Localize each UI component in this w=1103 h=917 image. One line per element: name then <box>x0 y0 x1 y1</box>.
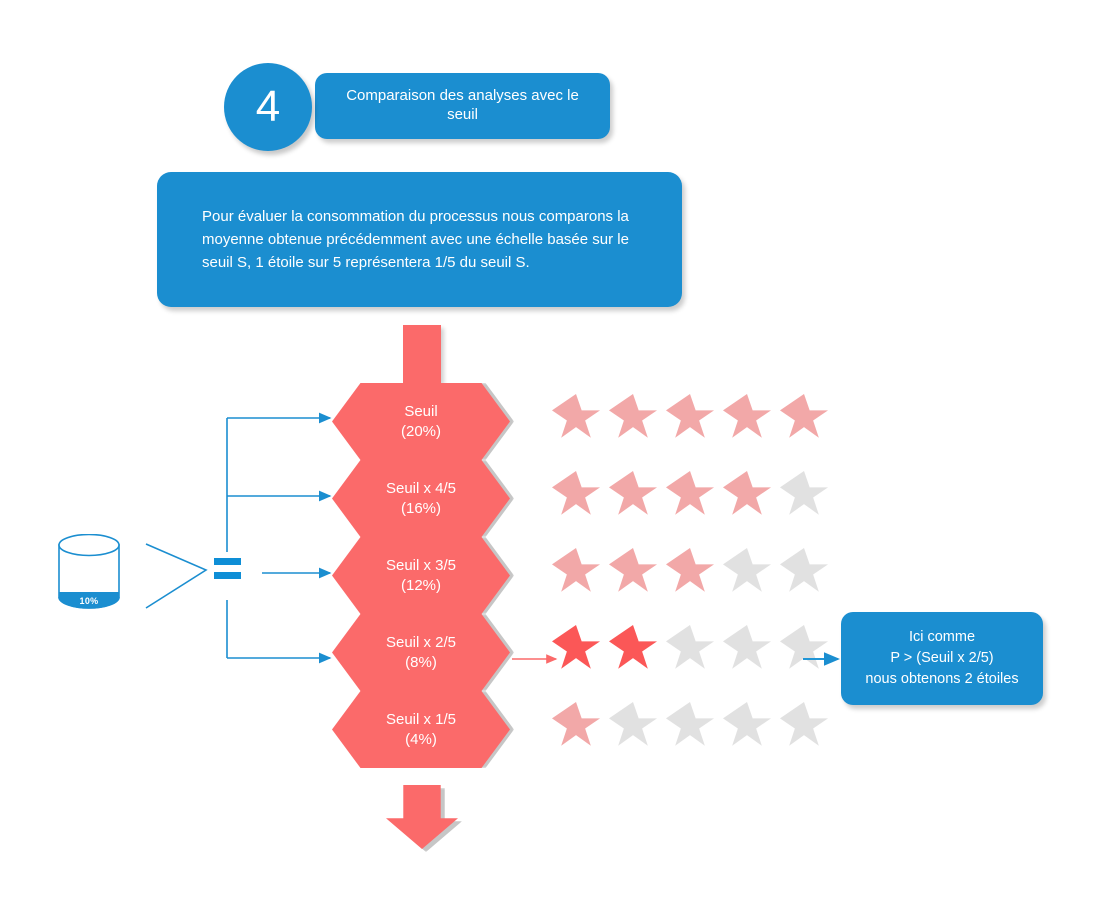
star-filled-icon <box>552 548 600 594</box>
funnel-level-percent: (12%) <box>401 576 441 596</box>
step-number-label: 4 <box>256 85 280 129</box>
step-number-badge: 4 <box>224 63 312 151</box>
star-rating-row-1 <box>552 470 828 518</box>
funnel-level-percent: (8%) <box>405 653 437 673</box>
star-filled-icon <box>552 394 600 440</box>
star-empty-icon <box>609 702 657 748</box>
star-filled-icon <box>666 471 714 517</box>
star-empty-icon <box>723 625 771 671</box>
funnel-level-3[interactable]: Seuil x 2/5 (8%) <box>332 614 510 691</box>
star-filled-icon <box>609 471 657 517</box>
funnel-level-label: Seuil x 2/5 <box>386 633 456 653</box>
diagram-title-box: Comparaison des analyses avec le seuil <box>315 73 610 139</box>
star-filled-icon <box>552 625 600 671</box>
star-empty-icon <box>666 625 714 671</box>
star-rating-row-0 <box>552 393 828 441</box>
star-rating-row-2 <box>552 547 828 595</box>
funnel-bottom-arrow-icon <box>386 785 458 849</box>
funnel-level-label: Seuil x 1/5 <box>386 710 456 730</box>
equals-operator-icon <box>214 558 241 565</box>
star-rating-row-4 <box>552 701 828 749</box>
star-filled-icon <box>723 471 771 517</box>
funnel-level-0[interactable]: Seuil (20%) <box>332 383 510 460</box>
star-filled-icon <box>666 394 714 440</box>
funnel-level-1[interactable]: Seuil x 4/5 (16%) <box>332 460 510 537</box>
funnel-level-label: Seuil <box>404 402 437 422</box>
diagram-canvas: 4 Comparaison des analyses avec le seuil… <box>0 0 1103 917</box>
star-empty-icon <box>780 471 828 517</box>
star-empty-icon <box>666 702 714 748</box>
funnel-level-label: Seuil x 3/5 <box>386 556 456 576</box>
star-filled-icon <box>552 702 600 748</box>
database-value-label: 10% <box>56 596 122 606</box>
database-cylinder-icon: 10% <box>56 534 122 610</box>
star-filled-icon <box>552 471 600 517</box>
description-text: Pour évaluer la consommation du processu… <box>202 205 637 275</box>
funnel-level-percent: (16%) <box>401 499 441 519</box>
star-filled-icon <box>666 548 714 594</box>
star-empty-icon <box>780 702 828 748</box>
chevron-connector <box>146 544 206 608</box>
funnel-level-label: Seuil x 4/5 <box>386 479 456 499</box>
callout-text: Ici commeP > (Seuil x 2/5)nous obtenons … <box>865 627 1018 690</box>
funnel-top-stem <box>403 325 441 383</box>
funnel-level-percent: (4%) <box>405 730 437 750</box>
description-box: Pour évaluer la consommation du processu… <box>157 172 682 307</box>
star-filled-icon <box>609 625 657 671</box>
star-empty-icon <box>780 625 828 671</box>
star-filled-icon <box>609 548 657 594</box>
funnel-level-4[interactable]: Seuil x 1/5 (4%) <box>332 691 510 768</box>
star-filled-icon <box>780 394 828 440</box>
star-filled-icon <box>723 394 771 440</box>
star-empty-icon <box>780 548 828 594</box>
funnel-level-percent: (20%) <box>401 422 441 442</box>
threshold-funnel: Seuil (20%) Seuil x 4/5 (16%) Seuil x 3/… <box>332 325 522 850</box>
page-title: Comparaison des analyses avec le seuil <box>333 87 592 125</box>
star-empty-icon <box>723 548 771 594</box>
result-callout-box: Ici commeP > (Seuil x 2/5)nous obtenons … <box>841 612 1043 705</box>
star-rating-row-3 <box>552 624 828 672</box>
funnel-level-2[interactable]: Seuil x 3/5 (12%) <box>332 537 510 614</box>
star-empty-icon <box>723 702 771 748</box>
star-filled-icon <box>609 394 657 440</box>
equals-operator-icon <box>214 572 241 579</box>
